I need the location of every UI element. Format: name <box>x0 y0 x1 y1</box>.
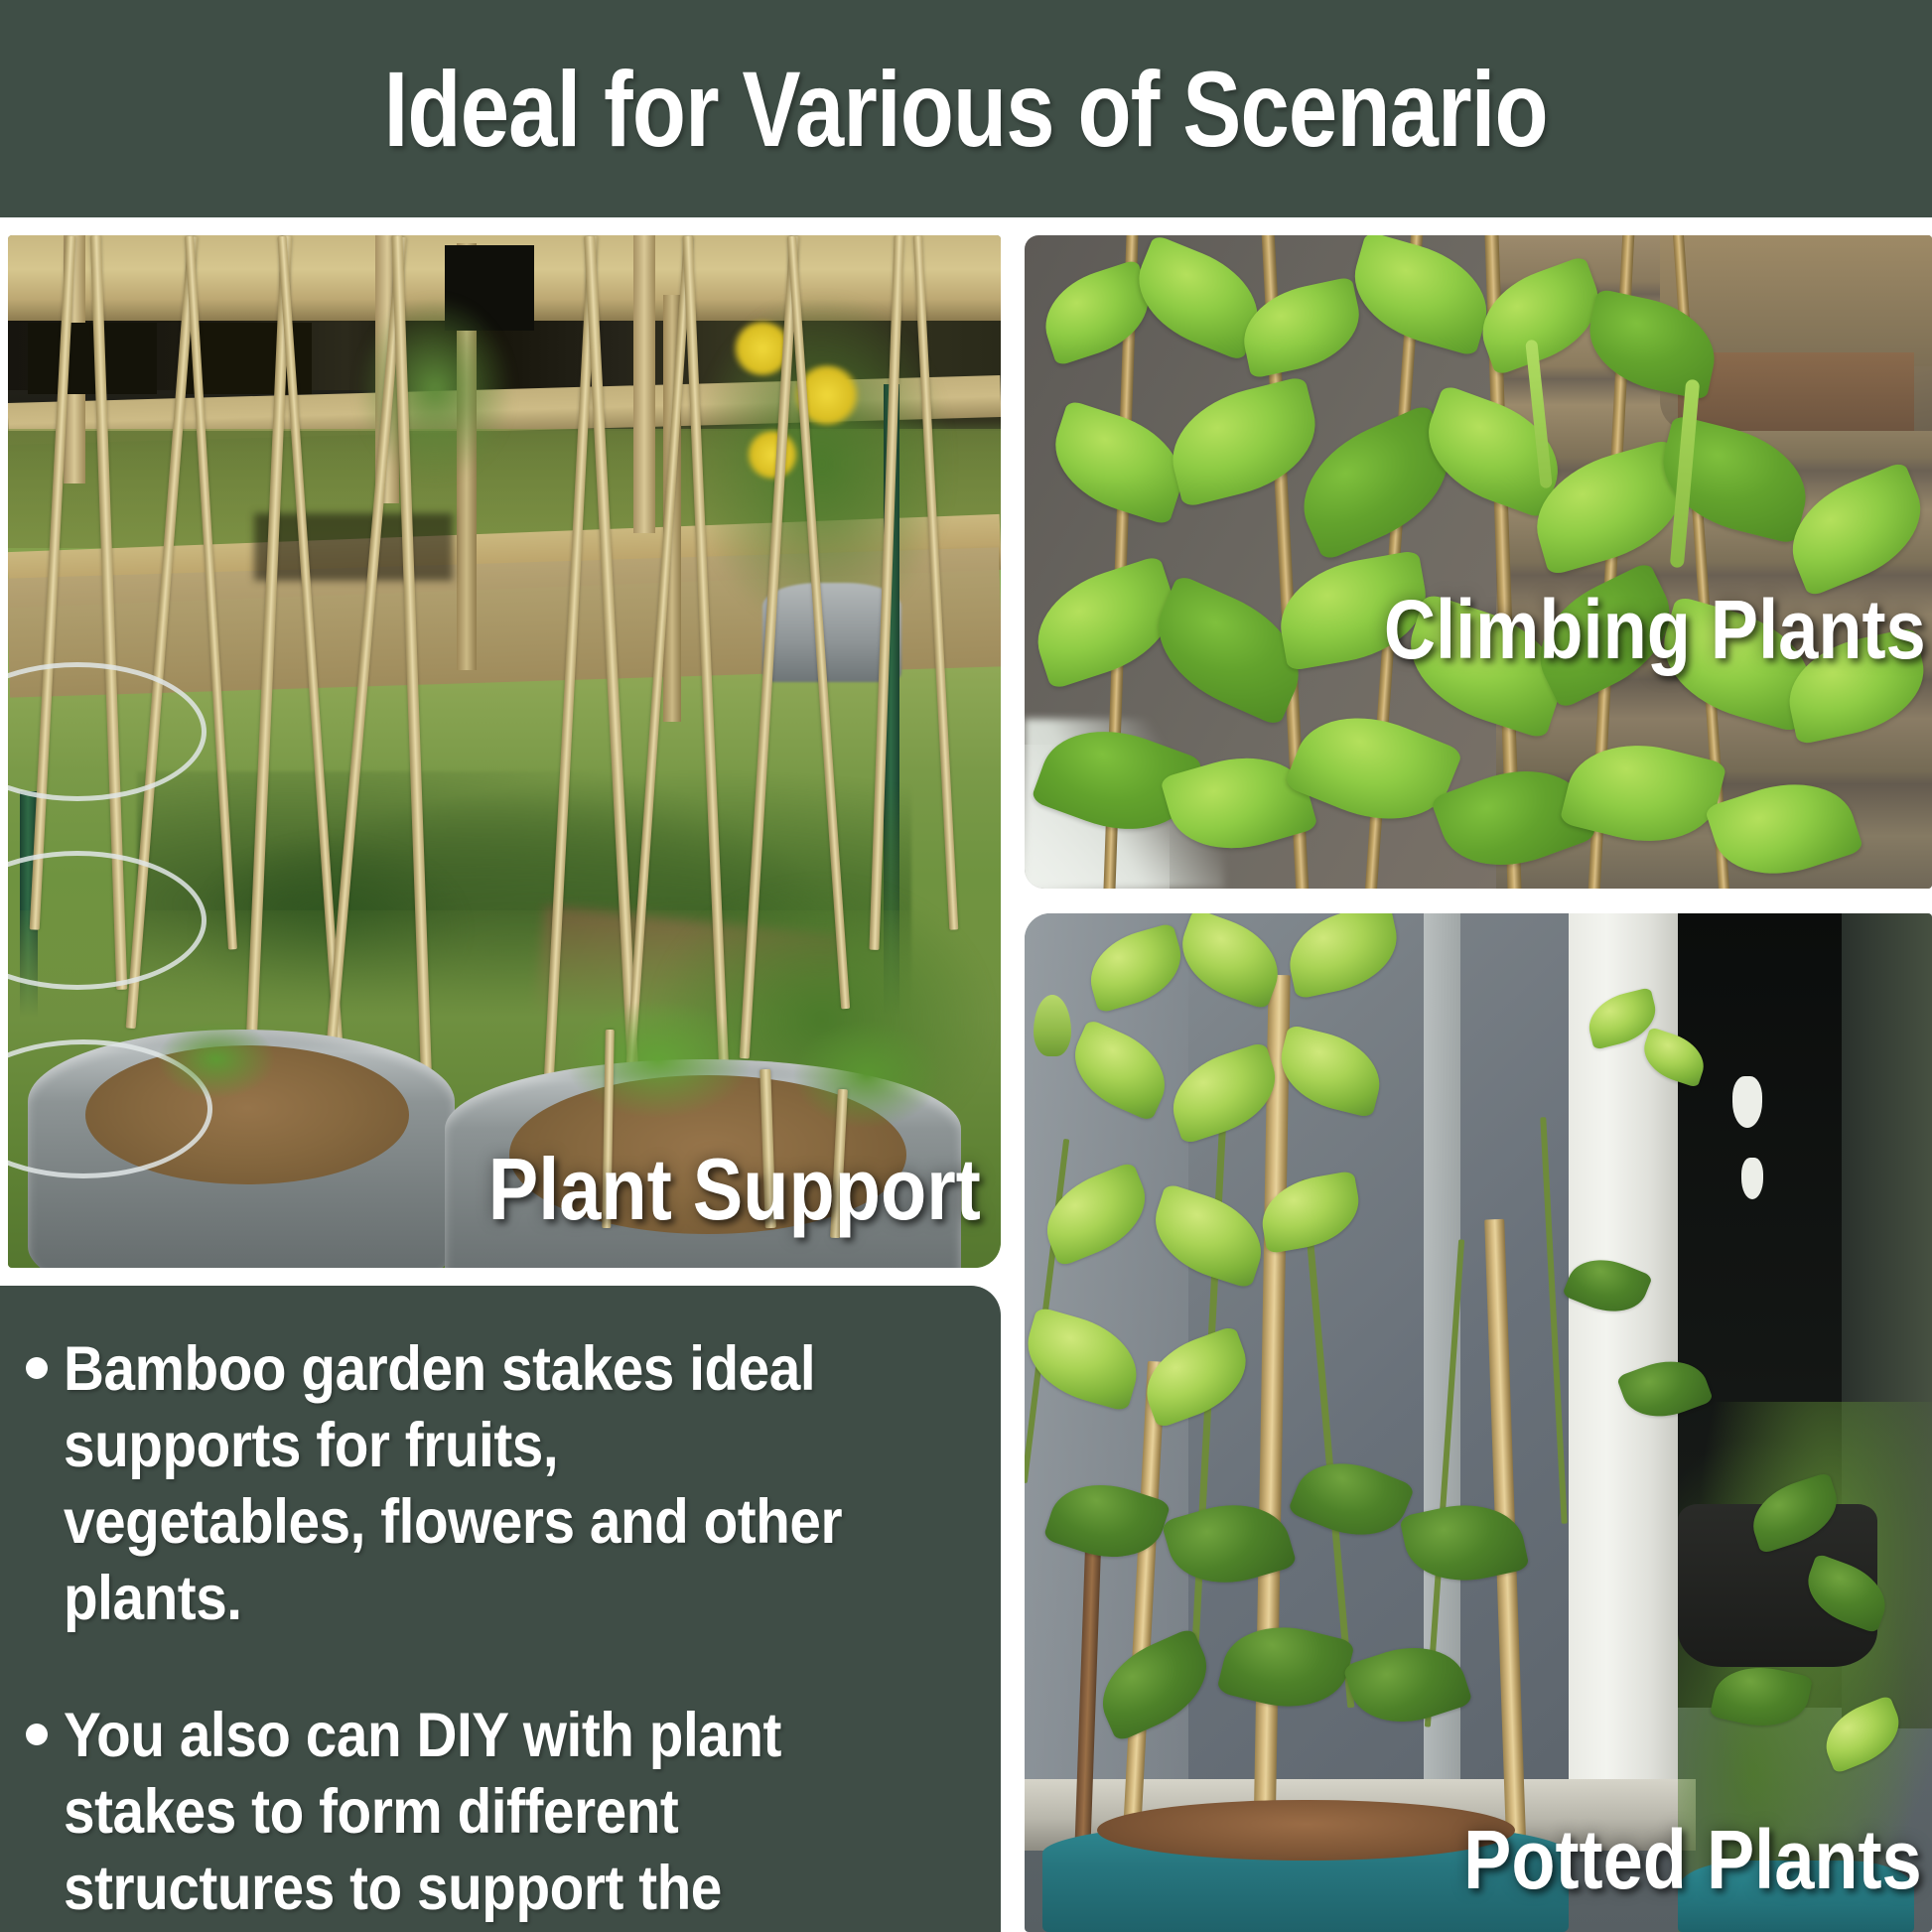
bullet-text: You also can DIY with plant stakes to fo… <box>64 1698 872 1932</box>
bullet-dot-icon <box>26 1724 48 1745</box>
bullet-dot-icon <box>26 1357 48 1379</box>
page-title: Ideal for Various of Scenario <box>384 47 1548 171</box>
list-item: Bamboo garden stakes ideal supports for … <box>18 1331 961 1636</box>
panel-potted-plants: Potted Plants <box>1025 913 1932 1932</box>
bullets-panel: Bamboo garden stakes ideal supports for … <box>0 1286 1001 1932</box>
photo-plant-support <box>8 235 1001 1268</box>
infographic-page: Ideal for Various of Scenario <box>0 0 1932 1932</box>
caption-plant-support: Plant Support <box>488 1139 981 1240</box>
panel-plant-support: Plant Support <box>8 235 1001 1268</box>
caption-climbing-plants: Climbing Plants <box>1384 582 1926 678</box>
benefit-list: Bamboo garden stakes ideal supports for … <box>18 1331 961 1932</box>
list-item: You also can DIY with plant stakes to fo… <box>18 1698 961 1932</box>
caption-potted-plants: Potted Plants <box>1463 1812 1922 1908</box>
panel-climbing-plants: Climbing Plants <box>1025 235 1932 889</box>
photo-potted-plants <box>1025 913 1932 1932</box>
header-band: Ideal for Various of Scenario <box>0 0 1932 217</box>
bullet-text: Bamboo garden stakes ideal supports for … <box>64 1331 872 1636</box>
photo-climbing-plants <box>1025 235 1932 889</box>
